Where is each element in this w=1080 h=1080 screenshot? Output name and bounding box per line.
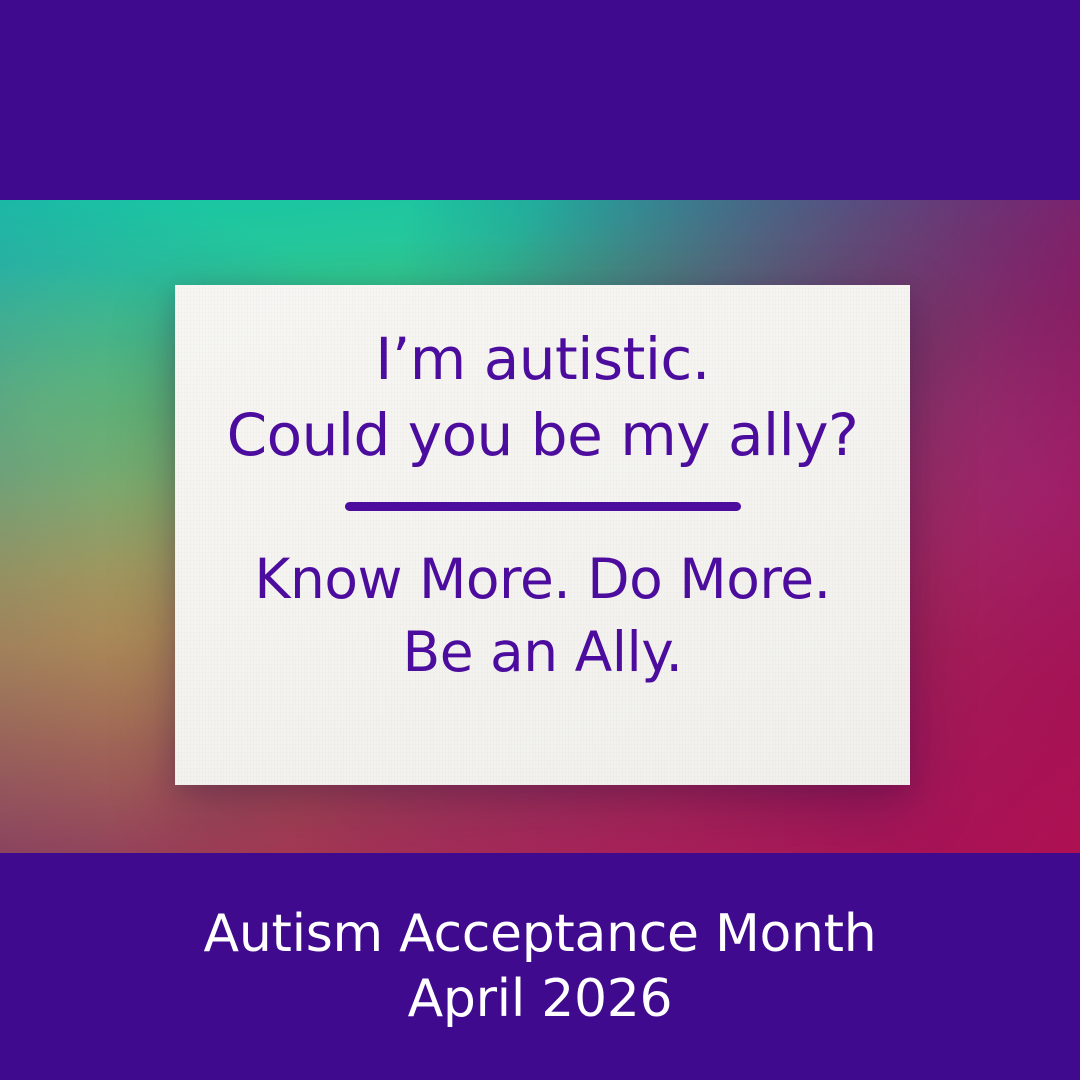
- poster-canvas: Autism Hampshire part of Avenues Group: [0, 0, 1080, 1080]
- card-divider: [345, 502, 741, 511]
- footer-band: Autism Acceptance Month April 2026: [0, 853, 1080, 1080]
- footer-line-2: April 2026: [408, 970, 673, 1028]
- footer-line-1: Autism Acceptance Month: [204, 905, 877, 963]
- message-card: I’m autistic. Could you be my ally? Know…: [175, 285, 910, 785]
- header-band: [0, 0, 1080, 200]
- card-line-2: Could you be my ally?: [227, 405, 859, 465]
- card-line-1: I’m autistic.: [375, 329, 710, 389]
- card-line-3: Know More. Do More.: [254, 551, 830, 608]
- card-line-4: Be an Ally.: [403, 624, 683, 681]
